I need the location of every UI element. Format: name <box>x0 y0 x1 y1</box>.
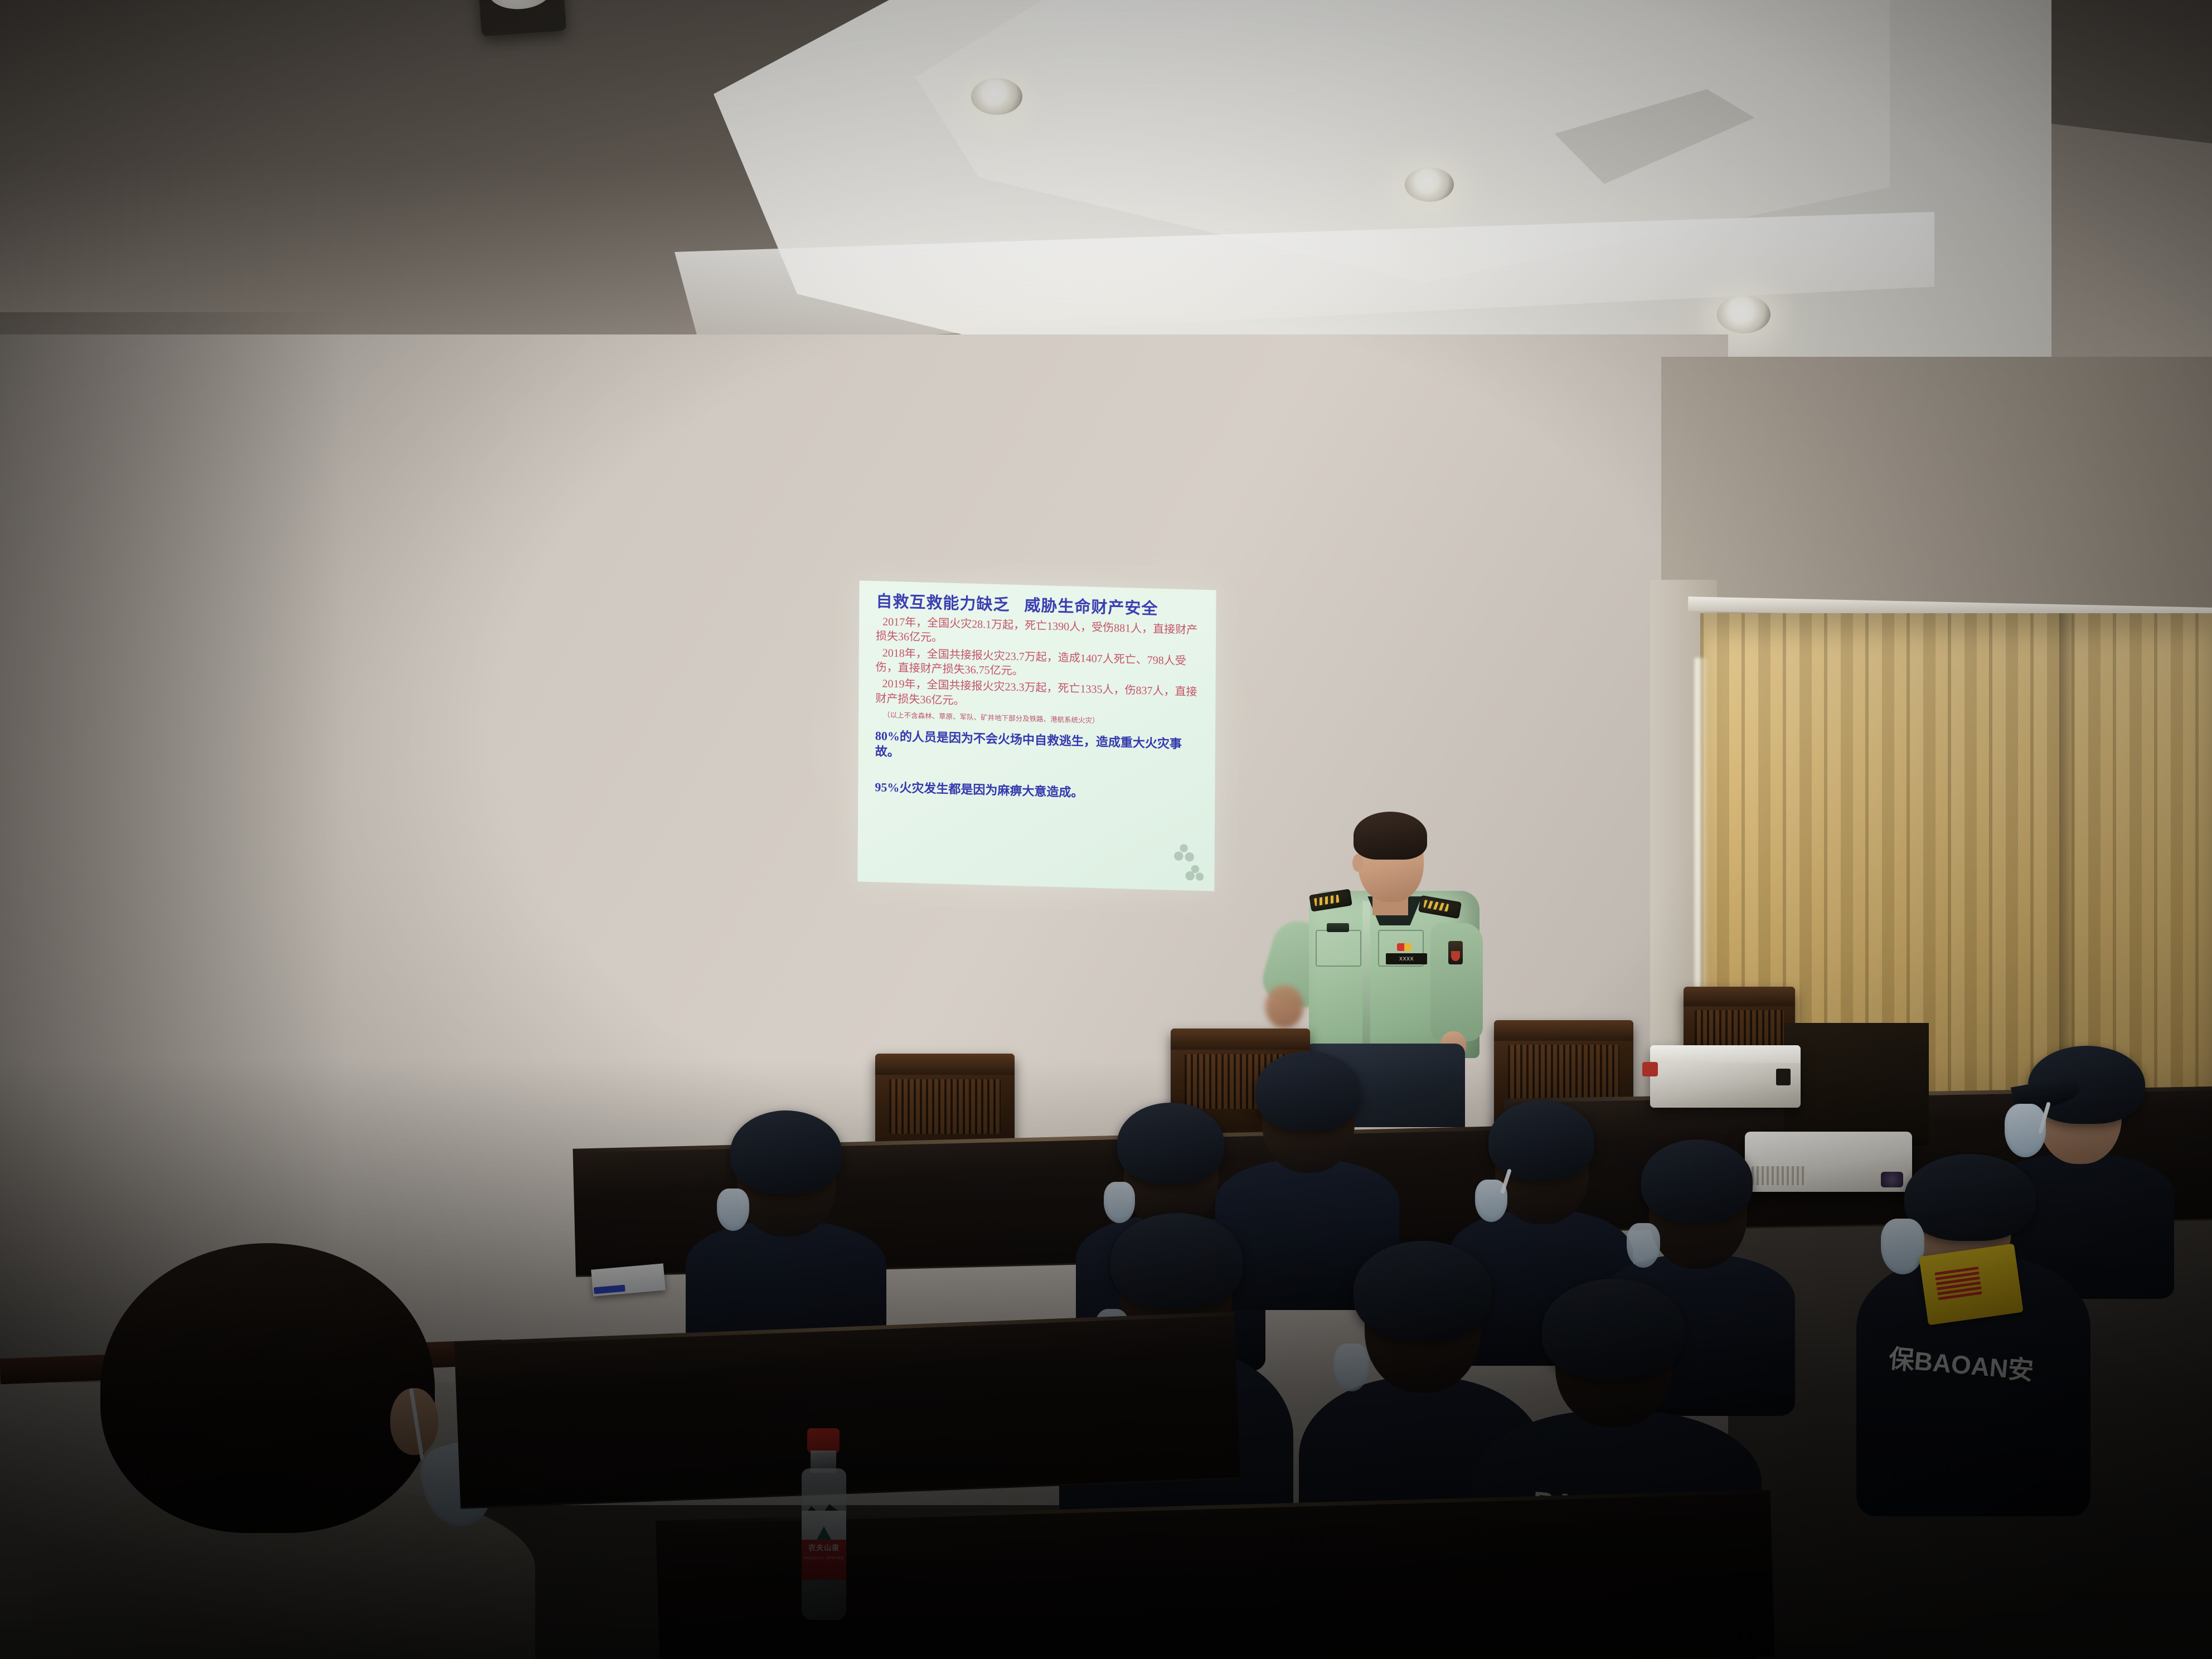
presenter-nameplate-text: XXXX <box>1386 953 1427 964</box>
slide-highlight-escape: 80%的人员是因为不会火场中自救逃生，造成重大火灾事故。 <box>875 728 1201 768</box>
slide-footnote: （以上不含森林、草原、军队、矿井地下部分及铁路、港航系统火灾） <box>883 711 1201 728</box>
slide-decoration-icon <box>1171 841 1205 884</box>
presenter-hair <box>1354 812 1427 860</box>
water-bottle: 农夫山泉 NONGFU SPRING <box>798 1428 850 1622</box>
presenter-chest-emblem <box>1327 923 1349 932</box>
presenter-flag-badge <box>1397 943 1411 951</box>
training-room-photo: 自救互救能力缺乏威胁生命财产安全 2017年，全国火灾28.1万起，死亡1390… <box>0 0 2212 1659</box>
projection-screen-slide: 自救互救能力缺乏威胁生命财产安全 2017年，全国火灾28.1万起，死亡1390… <box>857 580 1216 891</box>
bottle-cap <box>807 1428 840 1453</box>
foreground-hair <box>100 1243 435 1533</box>
bottle-brand-cn: 农夫山泉 <box>802 1540 846 1556</box>
attendee-right-front: 保BAOAN安 <box>1856 1126 2090 1516</box>
ceiling-downlight-icon <box>1717 295 1770 333</box>
bottle-label-brand: 农夫山泉 NONGFU SPRING <box>802 1540 846 1580</box>
wall-clock <box>477 0 566 36</box>
presenter-pocket-left <box>1316 930 1361 967</box>
clock-face <box>486 0 554 11</box>
slide-title-part2: 威胁生命财产安全 <box>1024 596 1158 618</box>
presenter-sleeve-patch <box>1448 941 1463 964</box>
presenter-ear <box>1352 854 1364 872</box>
attendee <box>686 1059 886 1371</box>
ceiling-downlight-icon <box>971 78 1022 115</box>
slide-title-part1: 自救互救能力缺乏 <box>876 593 1010 614</box>
slide-highlight-negligence: 95%火灾发生都是因为麻痹大意造成。 <box>875 779 1200 803</box>
bottle-brand-en: NONGFU SPRING <box>802 1556 846 1560</box>
presenter-nameplate: XXXX <box>1386 953 1427 964</box>
duty-armband <box>1919 1244 2024 1326</box>
ceiling-downlight-icon <box>1405 167 1454 202</box>
